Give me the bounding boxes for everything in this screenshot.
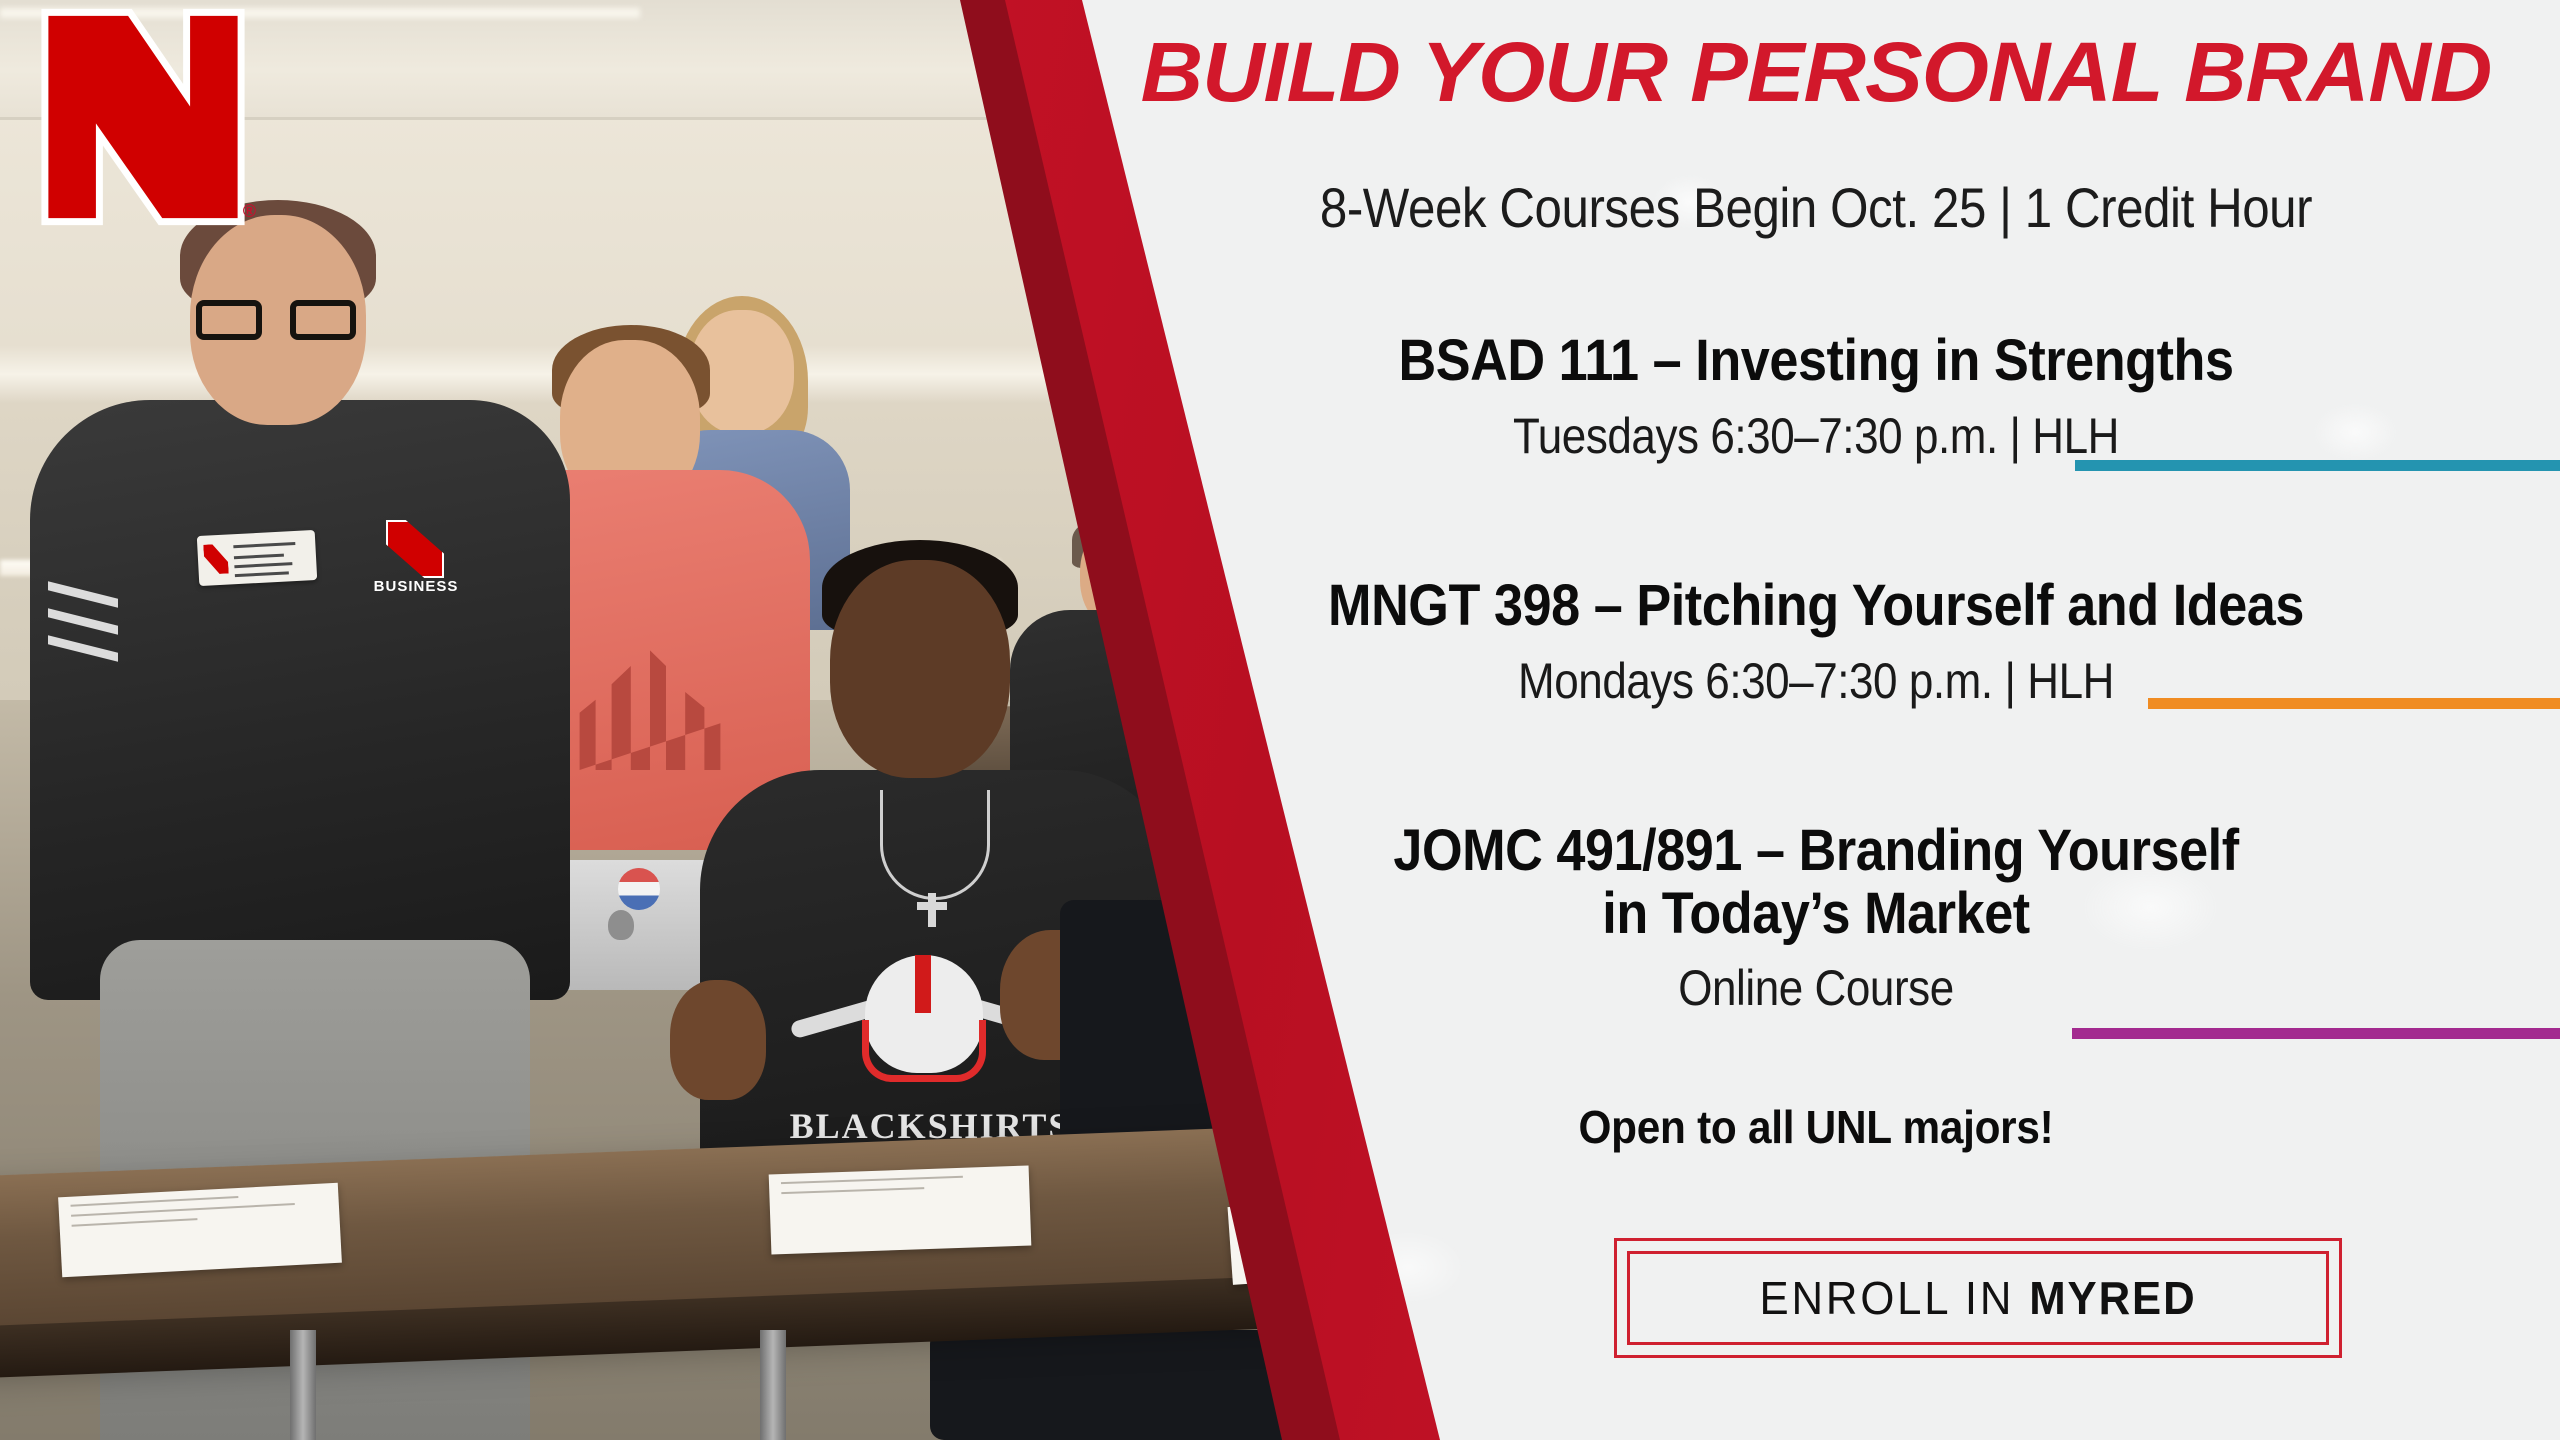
course-rule-purple bbox=[2072, 1028, 2560, 1039]
course-meta: Tuesdays 6:30–7:30 p.m. | HLH bbox=[1177, 407, 2455, 465]
enroll-button-label: ENROLL IN MYRED bbox=[1759, 1271, 2196, 1325]
course-item-bsad111: BSAD 111 – Investing in Strengths Tuesda… bbox=[1090, 330, 2542, 465]
registered-mark: ® bbox=[243, 201, 256, 222]
polo-n-icon bbox=[386, 520, 444, 578]
nebraska-n-logo: ® bbox=[34, 8, 252, 226]
enroll-prefix: ENROLL IN bbox=[1759, 1272, 2029, 1324]
cross-pendant-icon bbox=[928, 893, 936, 927]
polo-business-text: BUSINESS bbox=[370, 578, 462, 595]
instructor-name-badge bbox=[197, 530, 317, 586]
enroll-in-myred-button[interactable]: ENROLL IN MYRED bbox=[1614, 1238, 2342, 1358]
subtitle: 8-Week Courses Begin Oct. 25 | 1 Credit … bbox=[1177, 175, 2455, 240]
course-rule-orange bbox=[2148, 698, 2560, 709]
course-meta: Online Course bbox=[1177, 959, 2455, 1017]
handout-center bbox=[769, 1165, 1032, 1254]
enroll-emphasis: MYRED bbox=[2029, 1272, 2196, 1324]
course-item-mngt398: MNGT 398 – Pitching Yourself and Ideas M… bbox=[1090, 575, 2542, 710]
instructor-glasses-icon bbox=[196, 300, 356, 344]
table-leg-left bbox=[290, 1330, 316, 1440]
course-title: MNGT 398 – Pitching Yourself and Ideas bbox=[1163, 575, 2470, 638]
table-leg-right bbox=[760, 1330, 786, 1440]
promo-poster: BUSINESS BLACKSHIRTS bbox=[0, 0, 2560, 1440]
student-hand-left bbox=[670, 980, 766, 1100]
course-item-jomc491: JOMC 491/891 – Branding Yourself in Toda… bbox=[1090, 820, 2542, 1017]
student-main-head bbox=[830, 560, 1010, 778]
shirt-facemask-icon bbox=[862, 1020, 986, 1082]
necklace bbox=[880, 790, 990, 900]
course-rule-teal bbox=[2075, 460, 2560, 471]
polo-sleeve-stripes bbox=[48, 590, 118, 700]
shirt-helmet-stripe bbox=[915, 955, 931, 1013]
course-title-line2: in Today’s Market bbox=[1163, 883, 2470, 946]
course-title: BSAD 111 – Investing in Strengths bbox=[1163, 330, 2470, 393]
handout-left bbox=[58, 1183, 342, 1278]
laptop-sticker bbox=[618, 868, 660, 910]
page-title: BUILD YOUR PERSONAL BRAND bbox=[1068, 30, 2560, 114]
polo-n-business-logo: BUSINESS bbox=[370, 520, 462, 606]
badge-n-icon bbox=[203, 544, 229, 575]
enroll-button-inner-border: ENROLL IN MYRED bbox=[1627, 1251, 2329, 1345]
course-title-line1: JOMC 491/891 – Branding Yourself bbox=[1163, 820, 2470, 883]
instructor-polo bbox=[30, 400, 570, 1000]
open-to-all-note: Open to all UNL majors! bbox=[1148, 1100, 2484, 1154]
apple-logo-icon bbox=[608, 910, 634, 940]
